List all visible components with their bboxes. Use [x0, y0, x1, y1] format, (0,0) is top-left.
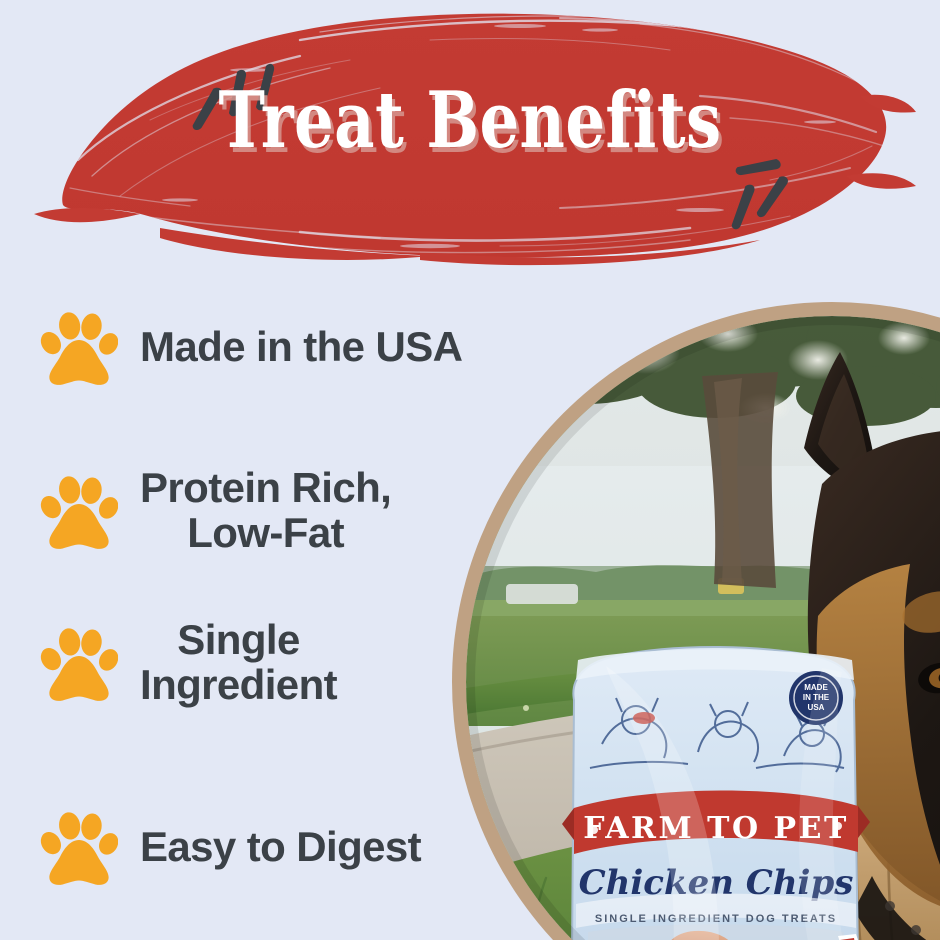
benefit-label: Protein Rich, Low-Fat: [140, 466, 391, 555]
benefit-label: Made in the USA: [140, 325, 462, 370]
page-title: Treat Benefits: [94, 82, 846, 160]
benefit-item-single-ingredient: Single Ingredient: [40, 618, 337, 707]
header-banner: Treat Benefits: [0, 0, 940, 275]
benefit-label: Single Ingredient: [140, 618, 337, 707]
poster-canvas: Treat Benefits Made in the USA: [0, 0, 940, 940]
benefit-item-protein-rich-low-fat: Protein Rich, Low-Fat: [40, 466, 391, 555]
benefit-item-made-in-usa: Made in the USA: [40, 308, 462, 386]
paw-icon: [40, 624, 118, 702]
paw-icon: [40, 472, 118, 550]
benefit-label: Easy to Digest: [140, 825, 421, 870]
treat-bag: MADE IN THE USA FARM TO PET: [562, 647, 870, 940]
paw-icon: [40, 808, 118, 886]
benefit-item-easy-to-digest: Easy to Digest: [40, 808, 421, 886]
paw-icon: [40, 308, 118, 386]
